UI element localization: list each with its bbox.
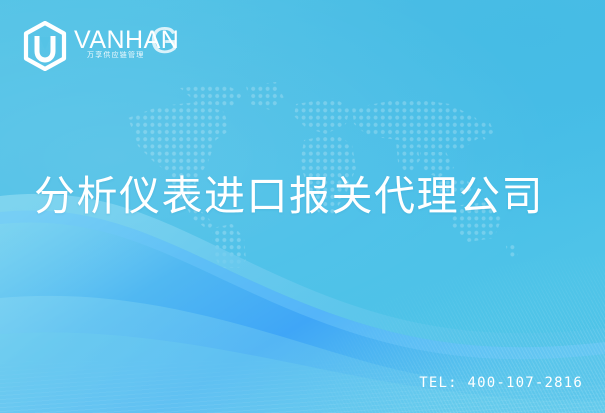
vanhang-hexagon-mark-icon [22,21,68,71]
brand-logo[interactable]: VANHAN G 万享供应链管理 [22,20,74,72]
page-title: 分析仪表进口报关代理公司 [34,168,586,224]
contact-telephone: TEL: 400-107-2816 [419,375,583,391]
promo-banner: VANHAN G 万享供应链管理 分析仪表进口报关代理公司 TEL: 400-1… [0,0,605,413]
brand-wordmark-g: G [150,22,179,59]
brand-subtitle: 万享供应链管理 [87,50,144,60]
